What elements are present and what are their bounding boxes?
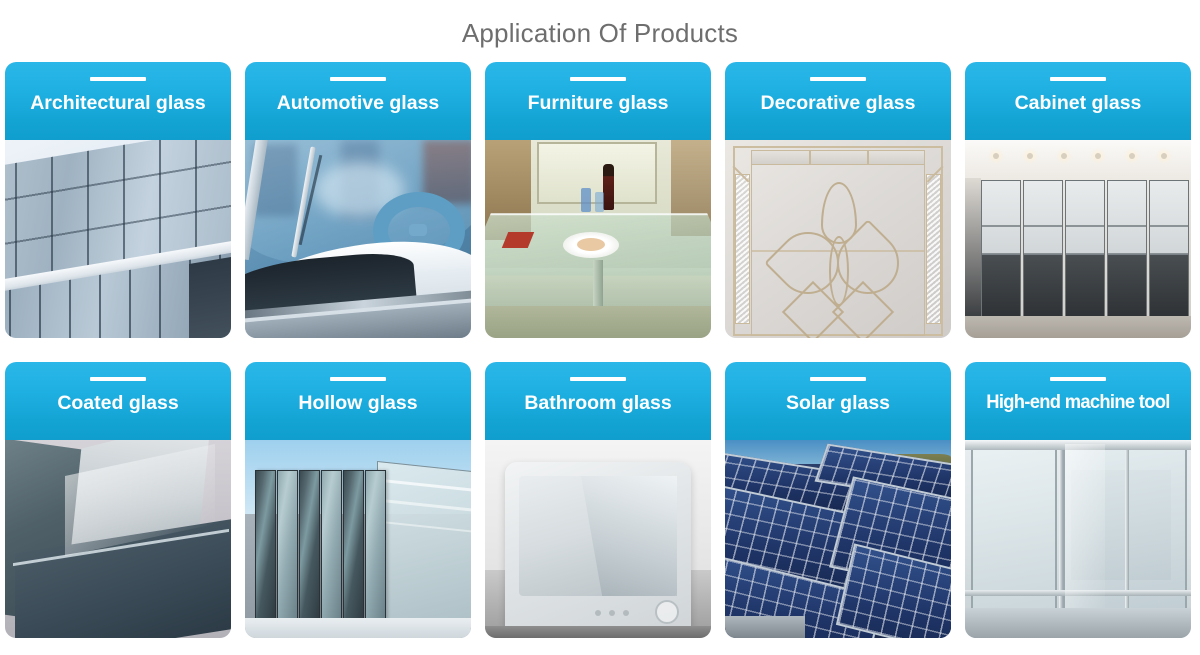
facade-dark-corner — [189, 256, 231, 338]
card-title: High-end machine tool — [969, 390, 1187, 416]
product-card-architectural-glass[interactable]: Architectural glass — [5, 62, 231, 338]
glass-sheen — [1065, 444, 1105, 634]
drinking-glass-right — [595, 192, 604, 212]
floor — [485, 306, 711, 338]
display-cabinet — [1107, 180, 1147, 322]
card-header: High-end machine tool — [965, 362, 1191, 440]
card-header: Solar glass — [725, 362, 951, 440]
page-title: Application Of Products — [0, 17, 1200, 49]
product-card-solar-glass[interactable]: Solar glass — [725, 362, 951, 638]
card-title: Decorative glass — [725, 90, 951, 116]
ceiling — [965, 140, 1191, 182]
product-card-hollow-glass[interactable]: Hollow glass — [245, 362, 471, 638]
card-title: Hollow glass — [245, 390, 471, 416]
header-divider-icon — [330, 77, 386, 81]
card-title: Architectural glass — [5, 90, 231, 116]
display-cabinet — [1023, 180, 1063, 322]
header-divider-icon — [90, 77, 146, 81]
card-photo-cabinet-glass — [965, 140, 1191, 338]
card-header: Bathroom glass — [485, 362, 711, 440]
band-divider — [809, 150, 811, 165]
insulated-glass-unit — [343, 470, 364, 620]
card-photo-automotive-glass — [245, 140, 471, 338]
card-photo-high-end-machine-tool — [965, 440, 1191, 638]
product-card-coated-glass[interactable]: Coated glass — [5, 362, 231, 638]
side-wall — [965, 178, 981, 318]
card-title: Cabinet glass — [965, 90, 1191, 116]
textured-column-left — [735, 174, 750, 324]
card-photo-coated-glass — [5, 440, 231, 638]
card-header: Automotive glass — [245, 62, 471, 140]
ceiling-spotlight-icon — [1161, 153, 1167, 159]
ceiling-spotlight-icon — [1027, 153, 1033, 159]
steering-wheel-hub — [409, 224, 427, 236]
product-category-grid: Architectural glass Automotive glass — [5, 62, 1195, 638]
textured-column-right — [926, 174, 941, 324]
insulated-glass-unit — [277, 470, 298, 620]
display-cabinet — [1149, 180, 1189, 322]
card-title: Solar glass — [725, 390, 951, 416]
card-photo-hollow-glass — [245, 440, 471, 638]
header-divider-icon — [330, 377, 386, 381]
card-header: Architectural glass — [5, 62, 231, 140]
card-title: Coated glass — [5, 390, 231, 416]
plate-center — [577, 238, 605, 251]
display-cabinet — [981, 180, 1021, 322]
ground — [725, 616, 805, 638]
counter-edge — [485, 626, 711, 638]
header-divider-icon — [810, 77, 866, 81]
indicator-dot-icon — [623, 610, 629, 616]
ceiling-spotlight-icon — [1095, 153, 1101, 159]
header-divider-icon — [1050, 377, 1106, 381]
insulated-glass-unit — [299, 470, 320, 620]
drinking-glass-left — [581, 188, 591, 212]
header-divider-icon — [570, 377, 626, 381]
band-divider — [867, 150, 869, 165]
header-divider-icon — [1050, 77, 1106, 81]
insulated-glass-unit — [365, 470, 386, 620]
insulated-glass-unit — [255, 470, 276, 620]
card-header: Coated glass — [5, 362, 231, 440]
product-card-bathroom-glass[interactable]: Bathroom glass — [485, 362, 711, 638]
card-title: Automotive glass — [245, 90, 471, 116]
card-header: Furniture glass — [485, 62, 711, 140]
wine-bottle — [603, 164, 614, 210]
indicator-dot-icon — [609, 610, 615, 616]
machine-base — [965, 608, 1191, 638]
card-photo-bathroom-glass — [485, 440, 711, 638]
card-title: Furniture glass — [485, 90, 711, 116]
floor — [245, 618, 471, 638]
ceiling-spotlight-icon — [993, 153, 999, 159]
indicator-dot-icon — [595, 610, 601, 616]
header-divider-icon — [810, 377, 866, 381]
product-card-high-end-machine-tool[interactable]: High-end machine tool — [965, 362, 1191, 638]
display-cabinet — [1065, 180, 1105, 322]
ceiling-spotlight-icon — [1129, 153, 1135, 159]
card-header: Hollow glass — [245, 362, 471, 440]
card-photo-furniture-glass — [485, 140, 711, 338]
ceiling-spotlight-icon — [1061, 153, 1067, 159]
card-title: Bathroom glass — [485, 390, 711, 416]
product-card-decorative-glass[interactable]: Decorative glass — [725, 62, 951, 338]
touch-sensor-button-icon — [655, 600, 679, 624]
card-header: Cabinet glass — [965, 62, 1191, 140]
product-card-furniture-glass[interactable]: Furniture glass — [485, 62, 711, 338]
header-divider-icon — [90, 377, 146, 381]
card-header: Decorative glass — [725, 62, 951, 140]
floor — [965, 316, 1191, 338]
card-photo-decorative-glass — [725, 140, 951, 338]
product-application-page: Application Of Products Architectural gl… — [0, 0, 1200, 655]
top-border-band — [751, 150, 925, 165]
card-photo-architectural-glass — [5, 140, 231, 338]
card-photo-solar-glass — [725, 440, 951, 638]
center-oval-motif — [829, 236, 849, 306]
product-card-automotive-glass[interactable]: Automotive glass — [245, 62, 471, 338]
product-card-cabinet-glass[interactable]: Cabinet glass — [965, 62, 1191, 338]
insulated-glass-unit — [321, 470, 342, 620]
header-divider-icon — [570, 77, 626, 81]
